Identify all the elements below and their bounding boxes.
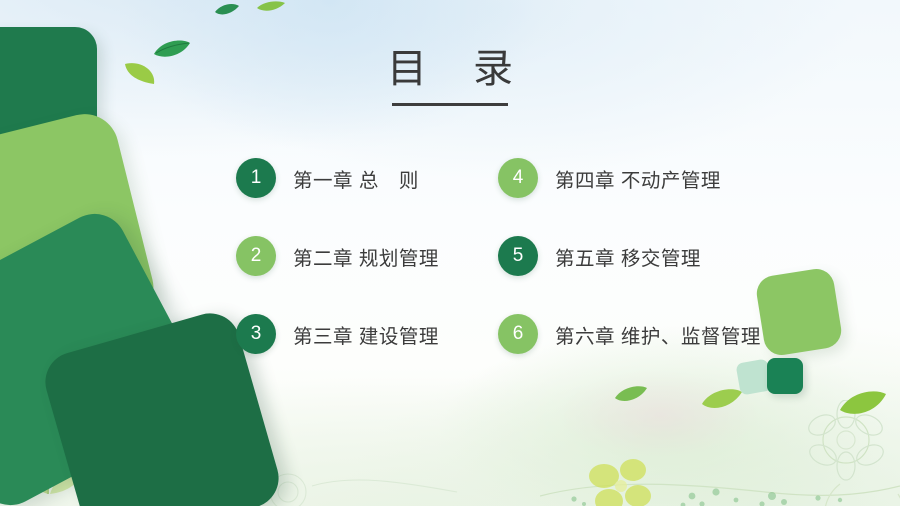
toc-item-label: 第六章 维护、监督管理 bbox=[555, 320, 761, 349]
toc-item-3[interactable]: 3 第三章 建设管理 bbox=[236, 314, 498, 354]
toc-number-badge: 4 bbox=[498, 158, 538, 198]
toc-number-badge: 5 bbox=[498, 236, 538, 276]
toc-item-label: 第二章 规划管理 bbox=[293, 242, 439, 271]
toc-item-4[interactable]: 4 第四章 不动产管理 bbox=[498, 158, 856, 198]
slide-canvas: 目 录 1 第一章 总 则 4 第四章 不动产管理 2 第二章 规划管理 5 第… bbox=[0, 0, 900, 506]
toc-number-badge: 3 bbox=[236, 314, 276, 354]
toc-item-6[interactable]: 6 第六章 维护、监督管理 bbox=[498, 314, 856, 354]
toc-item-1[interactable]: 1 第一章 总 则 bbox=[236, 158, 498, 198]
toc-item-5[interactable]: 5 第五章 移交管理 bbox=[498, 236, 856, 276]
toc-number-badge: 2 bbox=[236, 236, 276, 276]
toc-item-label: 第四章 不动产管理 bbox=[555, 164, 721, 193]
toc-item-label: 第三章 建设管理 bbox=[293, 320, 439, 349]
title-underline bbox=[392, 103, 508, 106]
toc-number-badge: 1 bbox=[236, 158, 276, 198]
table-of-contents: 1 第一章 总 则 4 第四章 不动产管理 2 第二章 规划管理 5 第五章 移… bbox=[236, 158, 856, 392]
toc-item-label: 第五章 移交管理 bbox=[555, 242, 701, 271]
toc-item-2[interactable]: 2 第二章 规划管理 bbox=[236, 236, 498, 276]
page-title-text: 目 录 bbox=[0, 46, 900, 92]
page-title: 目 录 bbox=[0, 46, 900, 106]
toc-number-badge: 6 bbox=[498, 314, 538, 354]
toc-item-label: 第一章 总 则 bbox=[293, 164, 419, 193]
